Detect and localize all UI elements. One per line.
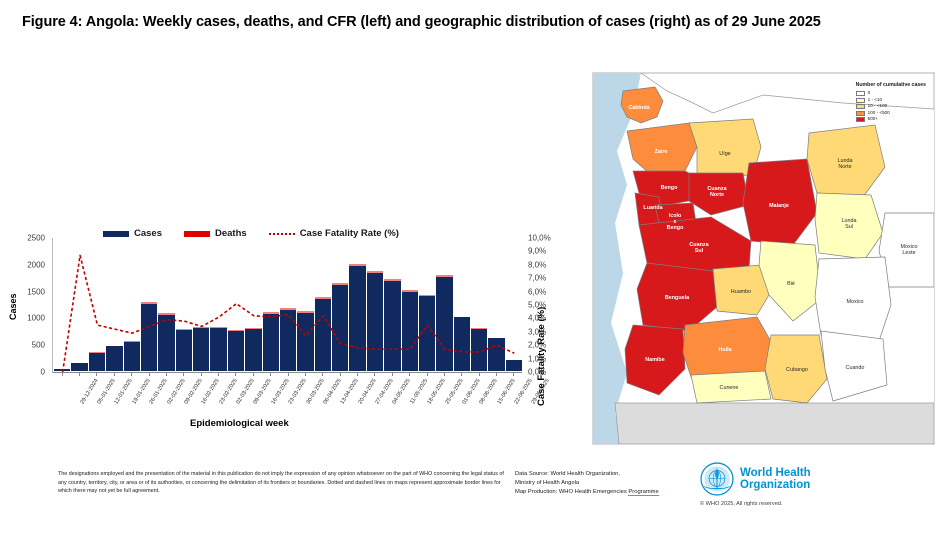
y-tick-label-left: 2000 — [27, 260, 45, 269]
bar-segment-cases — [158, 315, 174, 371]
map-province-label: Leste — [902, 250, 915, 256]
map-province-label: Sul — [845, 224, 853, 230]
bar-segment-cases — [245, 329, 261, 371]
map-province-label: Lunda — [842, 218, 857, 224]
map-legend-label: 10 - <100 — [868, 104, 888, 109]
deaths-swatch-icon — [184, 231, 210, 237]
map-province-label: Norte — [838, 164, 851, 170]
plot-area — [52, 238, 522, 373]
bar-segment-cases — [228, 331, 244, 371]
bar-column — [106, 238, 122, 371]
map-province-label: Sul — [695, 248, 704, 254]
bar-column — [506, 238, 522, 371]
map-legend-label: 100 - <500 — [868, 111, 890, 116]
cases-swatch-icon — [103, 231, 129, 237]
bar-column — [193, 238, 209, 371]
x-tickmark — [270, 373, 271, 376]
y-axis-right-ticks: 0,0%1,0%2,0%3,0%4,0%5,0%6,0%7,0%8,0%9,0%… — [524, 232, 564, 373]
bar-segment-cases — [280, 310, 296, 371]
map-legend-row: 500+ — [856, 117, 926, 122]
map-production-link[interactable]: Programme — [628, 489, 658, 496]
x-tickmark — [114, 373, 115, 376]
x-tickmark — [340, 373, 341, 376]
bar-column — [89, 238, 105, 371]
who-wordmark-line-2: Organization — [740, 479, 811, 492]
bar-segment-cases — [471, 329, 487, 371]
copyright-text: © WHO 2025, All rights reserved. — [700, 501, 910, 507]
x-tickmark — [479, 373, 480, 376]
bar-column — [263, 238, 279, 371]
x-tickmark — [131, 373, 132, 376]
x-tickmark — [444, 373, 445, 376]
map-legend-swatch — [856, 117, 865, 122]
y-axis-left-ticks: 05001000150020002500 — [8, 232, 48, 373]
bar-column — [436, 238, 452, 371]
x-tickmark — [288, 373, 289, 376]
map-graphic: CabindaZaireUígeBengoCuanzaNorteLuandaIc… — [593, 73, 934, 444]
data-source-block: Data Source: World Health Organization, … — [515, 470, 710, 498]
map-province-label: Bengo — [667, 225, 684, 231]
map-province-label: Cubango — [786, 367, 808, 373]
y-tick-label-right: 6,0% — [528, 287, 546, 296]
who-emblem-icon — [700, 462, 734, 496]
map-province-label: Namibe — [645, 357, 664, 363]
x-tickmark — [461, 373, 462, 376]
y-tick-label-right: 5,0% — [528, 301, 546, 310]
map-legend-label: 500+ — [868, 117, 878, 122]
map-province-label: Icolo — [669, 213, 682, 219]
map-province-label: Cuando — [846, 365, 865, 371]
map-province-label: Cabinda — [628, 105, 650, 111]
x-tickmark — [149, 373, 150, 376]
x-tickmark — [79, 373, 80, 376]
bar-segment-cases — [106, 346, 122, 371]
bar-column — [176, 238, 192, 371]
bar-column — [158, 238, 174, 371]
map-province-label: Cunene — [720, 385, 739, 391]
x-tickmark — [62, 373, 63, 376]
map-province-label: Huíla — [718, 347, 732, 353]
y-tick-label-right: 9,0% — [528, 247, 546, 256]
map-province-label: e — [674, 219, 677, 225]
bar-segment-cases — [71, 363, 87, 371]
x-tickmark — [409, 373, 410, 376]
y-tick-label-left: 500 — [32, 341, 45, 350]
map-legend-swatch — [856, 104, 865, 109]
x-tickmark — [496, 373, 497, 376]
x-tickmark — [427, 373, 428, 376]
cfr-line-icon — [269, 233, 295, 235]
y-tick-label-right: 8,0% — [528, 260, 546, 269]
bar-segment-cases — [419, 296, 435, 371]
bar-segment-cases — [54, 369, 70, 371]
x-tickmark — [322, 373, 323, 376]
who-wordmark-line-1: World Health — [740, 467, 811, 480]
x-axis-tickmarks — [53, 373, 523, 377]
map-legend-row: 1 - <10 — [856, 98, 926, 103]
x-tickmark — [166, 373, 167, 376]
bar-column — [367, 238, 383, 371]
map-province-label: Lunda — [838, 158, 853, 164]
bar-segment-cases — [297, 313, 313, 371]
bar-segment-cases — [141, 304, 157, 371]
bar-segment-cases — [176, 330, 192, 371]
map-province-label: Uíge — [719, 151, 730, 157]
figure-title: Figure 4: Angola: Weekly cases, deaths, … — [22, 12, 922, 33]
bar-column — [402, 238, 418, 371]
who-logo-row: World Health Organization — [700, 462, 910, 496]
x-tickmark — [218, 373, 219, 376]
epi-curve-chart: Cases Deaths Case Fatality Rate (%) Case… — [8, 228, 548, 448]
bar-column — [471, 238, 487, 371]
bar-column — [297, 238, 313, 371]
bar-column — [245, 238, 261, 371]
x-tickmark — [96, 373, 97, 376]
y-tick-label-left: 1500 — [27, 287, 45, 296]
bar-column — [315, 238, 331, 371]
x-tickmark — [183, 373, 184, 376]
bar-column — [228, 238, 244, 371]
data-source-line-1: Data Source: World Health Organization, — [515, 470, 710, 479]
bar-segment-cases — [210, 328, 226, 371]
data-source-line-2: Ministry of Health Angola — [515, 479, 710, 488]
y-tick-label-right: 3,0% — [528, 327, 546, 336]
x-tickmark — [357, 373, 358, 376]
bar-segment-cases — [384, 281, 400, 371]
bar-column — [71, 238, 87, 371]
bar-segment-cases — [89, 353, 105, 371]
who-disclaimer: The designations employed and the presen… — [58, 470, 510, 496]
bar-segment-cases — [402, 292, 418, 371]
who-wordmark: World Health Organization — [740, 467, 811, 492]
map-province-label: Bié — [787, 281, 795, 287]
y-tick-label-left: 0 — [41, 368, 45, 377]
map-legend-row: 0 — [856, 91, 926, 96]
bar-segment-cases — [367, 273, 383, 371]
bar-column — [124, 238, 140, 371]
map-province-label: Moxico — [846, 299, 863, 305]
figure-page: Figure 4: Angola: Weekly cases, deaths, … — [0, 0, 945, 557]
map-province-label: Luanda — [643, 205, 663, 211]
bar-column — [54, 238, 70, 371]
bars-container — [54, 238, 522, 371]
map-province-label: Malanje — [769, 203, 789, 209]
bar-column — [280, 238, 296, 371]
bar-segment-cases — [454, 317, 470, 371]
bar-segment-cases — [506, 360, 522, 371]
y-tick-label-right: 1,0% — [528, 354, 546, 363]
map-legend-swatch — [856, 91, 865, 96]
map-province-label: Moxico — [900, 244, 917, 250]
bar-column — [384, 238, 400, 371]
bar-segment-cases — [488, 338, 504, 371]
bar-column — [454, 238, 470, 371]
y-tick-label-right: 2,0% — [528, 341, 546, 350]
bar-segment-cases — [349, 266, 365, 371]
bar-column — [419, 238, 435, 371]
y-tick-label-left: 2500 — [27, 234, 45, 243]
bar-column — [332, 238, 348, 371]
map-legend-swatch — [856, 111, 865, 116]
bar-segment-cases — [263, 314, 279, 371]
y-tick-label-right: 4,0% — [528, 314, 546, 323]
map-legend-row: 10 - <100 — [856, 104, 926, 109]
x-tickmark — [253, 373, 254, 376]
y-tick-label-right: 0,0% — [528, 368, 546, 377]
map-province-label: Cuanza — [689, 242, 709, 248]
map-province-label: Norte — [710, 192, 724, 198]
map-legend-label: 1 - <10 — [868, 98, 882, 103]
bar-column — [141, 238, 157, 371]
who-branding: World Health Organization © WHO 2025, Al… — [700, 462, 910, 507]
x-tickmark — [513, 373, 514, 376]
y-tick-label-right: 7,0% — [528, 274, 546, 283]
map-legend-row: 100 - <500 — [856, 111, 926, 116]
map-province-label: Zaire — [655, 149, 668, 155]
x-axis-tick-labels: 29-12-202405-01-202512-01-202519-01-2025… — [53, 378, 523, 426]
bar-segment-cases — [193, 328, 209, 371]
bar-segment-cases — [315, 299, 331, 371]
bar-segment-cases — [124, 342, 140, 371]
bar-column — [349, 238, 365, 371]
x-tickmark — [374, 373, 375, 376]
bar-segment-cases — [332, 285, 348, 371]
map-province-label: Huambo — [731, 289, 751, 295]
x-tickmark — [392, 373, 393, 376]
map-province-label: Bengo — [661, 185, 678, 191]
x-tickmark — [201, 373, 202, 376]
map-province-label: Benguela — [665, 295, 690, 301]
map-legend: Number of cumulative cases 01 - <1010 - … — [856, 83, 926, 124]
bar-segment-cases — [436, 277, 452, 371]
x-tickmark — [235, 373, 236, 376]
map-legend-swatch — [856, 98, 865, 103]
angola-case-map: CabindaZaireUígeBengoCuanzaNorteLuandaIc… — [592, 72, 935, 445]
bar-column — [488, 238, 504, 371]
plot-frame — [52, 238, 522, 373]
y-tick-label-left: 1000 — [27, 314, 45, 323]
map-legend-label: 0 — [868, 91, 871, 96]
map-production-line: Map Production: WHO Health Emergencies P… — [515, 488, 710, 497]
bar-column — [210, 238, 226, 371]
map-legend-title: Number of cumulative cases — [856, 83, 926, 88]
map-production-prefix: Map Production: WHO Health Emergencies — [515, 489, 628, 495]
x-tickmark — [305, 373, 306, 376]
map-province-label: Cuanza — [707, 186, 727, 192]
y-tick-label-right: 10,0% — [528, 234, 551, 243]
